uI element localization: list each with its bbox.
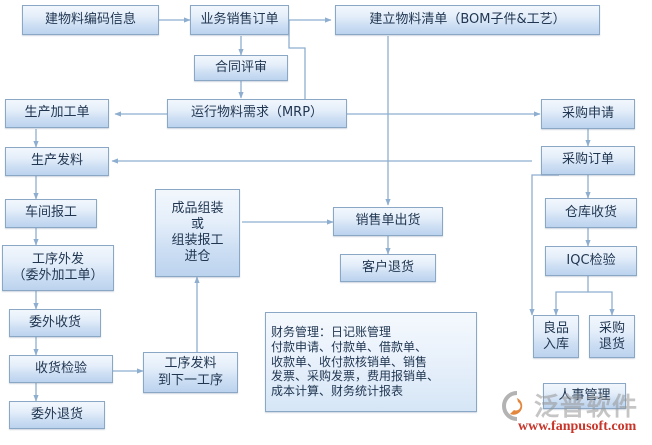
fanpu-logo-icon bbox=[496, 389, 538, 421]
node-sales-order[interactable]: 业务销售订单 bbox=[190, 5, 289, 35]
node-purchase-return[interactable]: 采购 退货 bbox=[589, 315, 635, 358]
node-finance-management[interactable]: 财务管理：日记账管理 付款申请、付款单、借款单、 收款单、收付款核销单、销售 发… bbox=[265, 312, 477, 412]
node-production-issue[interactable]: 生产发料 bbox=[5, 147, 109, 176]
node-good-stock-in[interactable]: 良品 入库 bbox=[533, 315, 579, 358]
node-purchase-request[interactable]: 采购申请 bbox=[541, 99, 635, 129]
node-purchase-order[interactable]: 采购订单 bbox=[541, 146, 635, 175]
node-outsourcing-receipt[interactable]: 委外收货 bbox=[9, 309, 101, 337]
node-iqc-inspection[interactable]: IQC检验 bbox=[545, 246, 637, 276]
node-receipt-inspection[interactable]: 收货检验 bbox=[9, 355, 113, 383]
node-customer-return[interactable]: 客户退货 bbox=[340, 254, 436, 282]
node-hr-management[interactable]: 人事管理 bbox=[543, 383, 626, 409]
node-sales-shipment[interactable]: 销售单出货 bbox=[333, 207, 443, 236]
node-outsourcing-return[interactable]: 委外退货 bbox=[9, 401, 105, 429]
watermark-url: www.fanpusoft.com bbox=[518, 419, 636, 435]
flowchart-canvas: 建物料编码信息 业务销售订单 建立物料清单（BOM子件&工艺） 合同评审 运行物… bbox=[0, 0, 652, 445]
edge-iqc-to-purchasereturn bbox=[588, 292, 612, 315]
node-workshop-report[interactable]: 车间报工 bbox=[5, 199, 97, 228]
node-process-issue-next[interactable]: 工序发料 到下一工序 bbox=[143, 352, 238, 393]
edge-iqc-to-goodstock bbox=[556, 276, 588, 315]
node-production-order[interactable]: 生产加工单 bbox=[5, 99, 109, 128]
node-warehouse-receipt[interactable]: 仓库收货 bbox=[545, 198, 637, 228]
node-bom[interactable]: 建立物料清单（BOM子件&工艺） bbox=[335, 5, 600, 35]
node-material-code[interactable]: 建物料编码信息 bbox=[22, 5, 159, 35]
node-outsourcing[interactable]: 工序外发 （委外加工单） bbox=[2, 245, 114, 291]
node-assembly[interactable]: 成品组装 或 组装报工 进仓 bbox=[155, 189, 240, 277]
edge-purchaseorder-to-goodstock bbox=[532, 175, 559, 315]
node-contract-review[interactable]: 合同评审 bbox=[194, 55, 288, 81]
node-mrp[interactable]: 运行物料需求（MRP） bbox=[167, 99, 347, 128]
